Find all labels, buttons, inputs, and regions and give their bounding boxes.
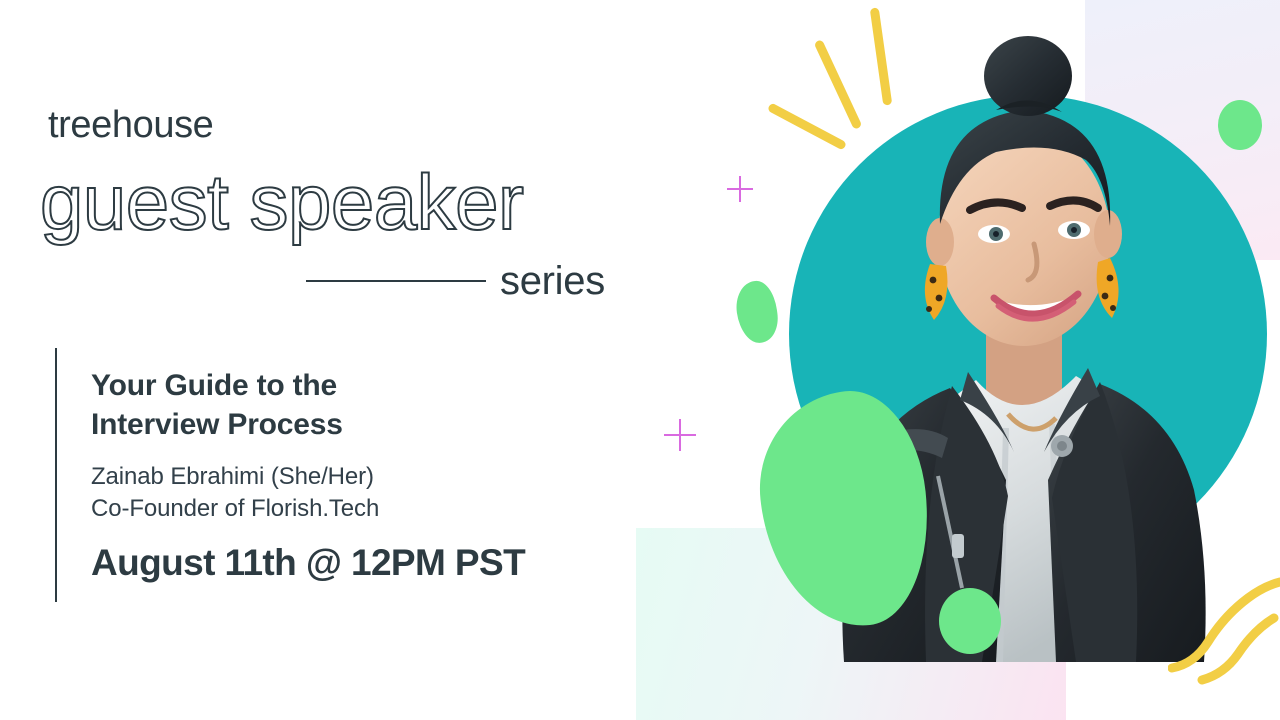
event-datetime: August 11th @ 12PM PST xyxy=(91,544,611,583)
info-vertical-rule xyxy=(55,348,57,602)
promo-slide: treehouse guest speaker series Your Guid… xyxy=(0,0,1280,720)
brand-name: treehouse xyxy=(48,106,213,144)
green-blob-round-icon xyxy=(939,588,1001,654)
talk-title-line-1: Your Guide to the xyxy=(91,369,337,402)
speaker-name: Zainab Ebrahimi (She/Her) xyxy=(91,461,611,494)
event-info-block: Your Guide to the Interview Process Zain… xyxy=(91,366,611,583)
series-label: series xyxy=(500,261,605,301)
magenta-plus-icon xyxy=(727,176,753,202)
headline-outline-text: guest speaker xyxy=(40,163,523,241)
speaker-role: Co-Founder of Florish.Tech xyxy=(91,493,611,526)
yellow-wavy-strokes-icon xyxy=(1168,570,1280,685)
series-row: series xyxy=(306,258,626,304)
talk-title-line-2: Interview Process xyxy=(91,408,343,441)
talk-title: Your Guide to the Interview Process xyxy=(91,366,611,445)
series-divider-rule xyxy=(306,280,486,282)
text-content: treehouse guest speaker series Your Guid… xyxy=(0,0,700,720)
green-blob-small-icon xyxy=(733,279,781,346)
